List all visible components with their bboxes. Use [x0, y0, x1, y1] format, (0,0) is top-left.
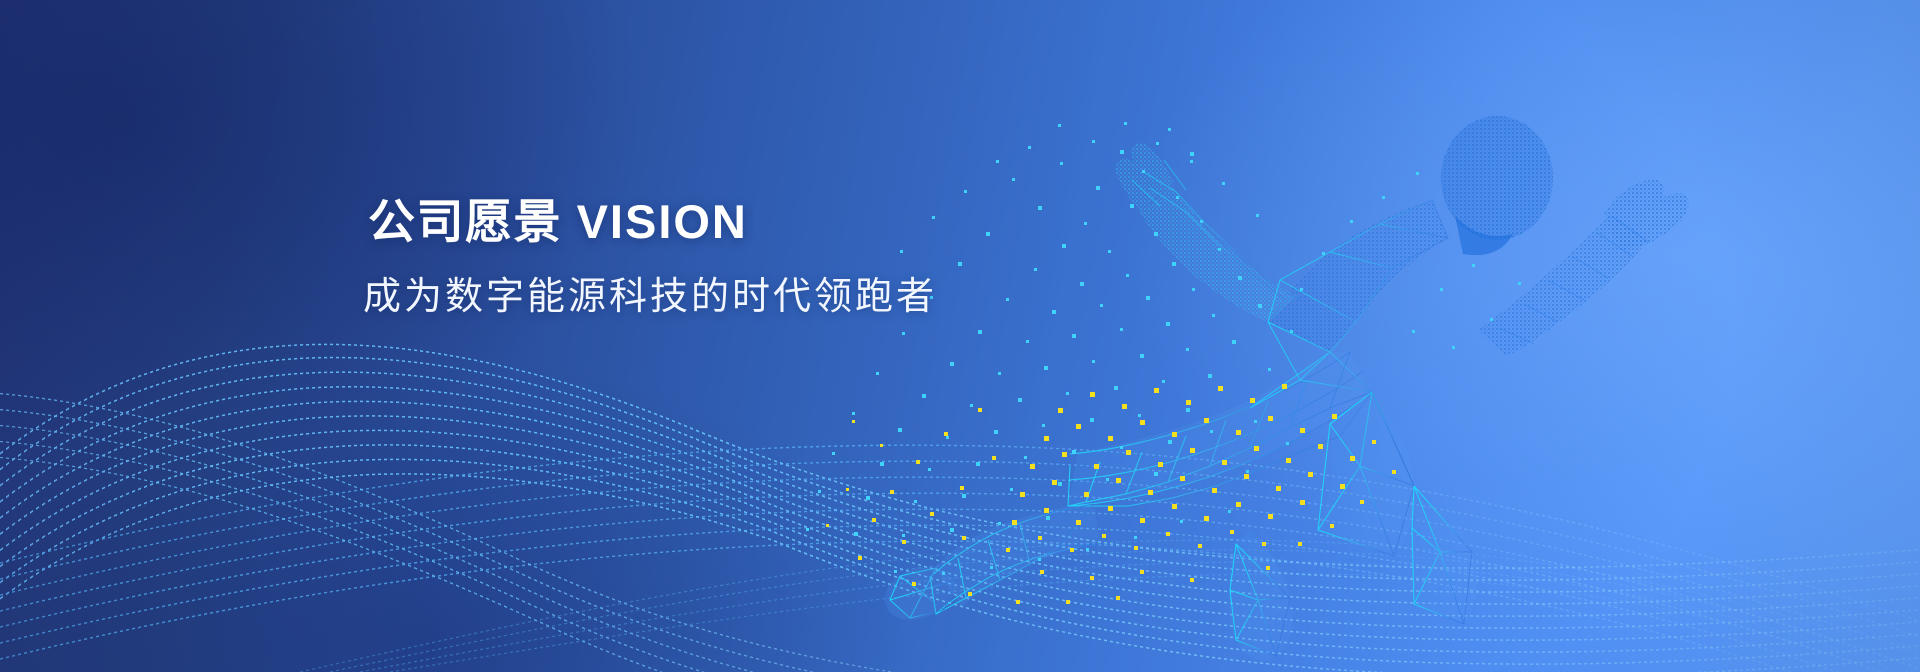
page-title-latin: VISION: [577, 195, 748, 248]
headline-block: 公司愿景 VISION 成为数字能源科技的时代领跑者: [368, 196, 937, 320]
vignette-overlay: [0, 0, 1920, 672]
page-subtitle: 成为数字能源科技的时代领跑者: [363, 275, 937, 321]
page-title-cn: 公司愿景: [368, 195, 562, 248]
vision-banner: 公司愿景 VISION 成为数字能源科技的时代领跑者: [0, 0, 1920, 672]
page-title: 公司愿景 VISION: [368, 196, 937, 249]
